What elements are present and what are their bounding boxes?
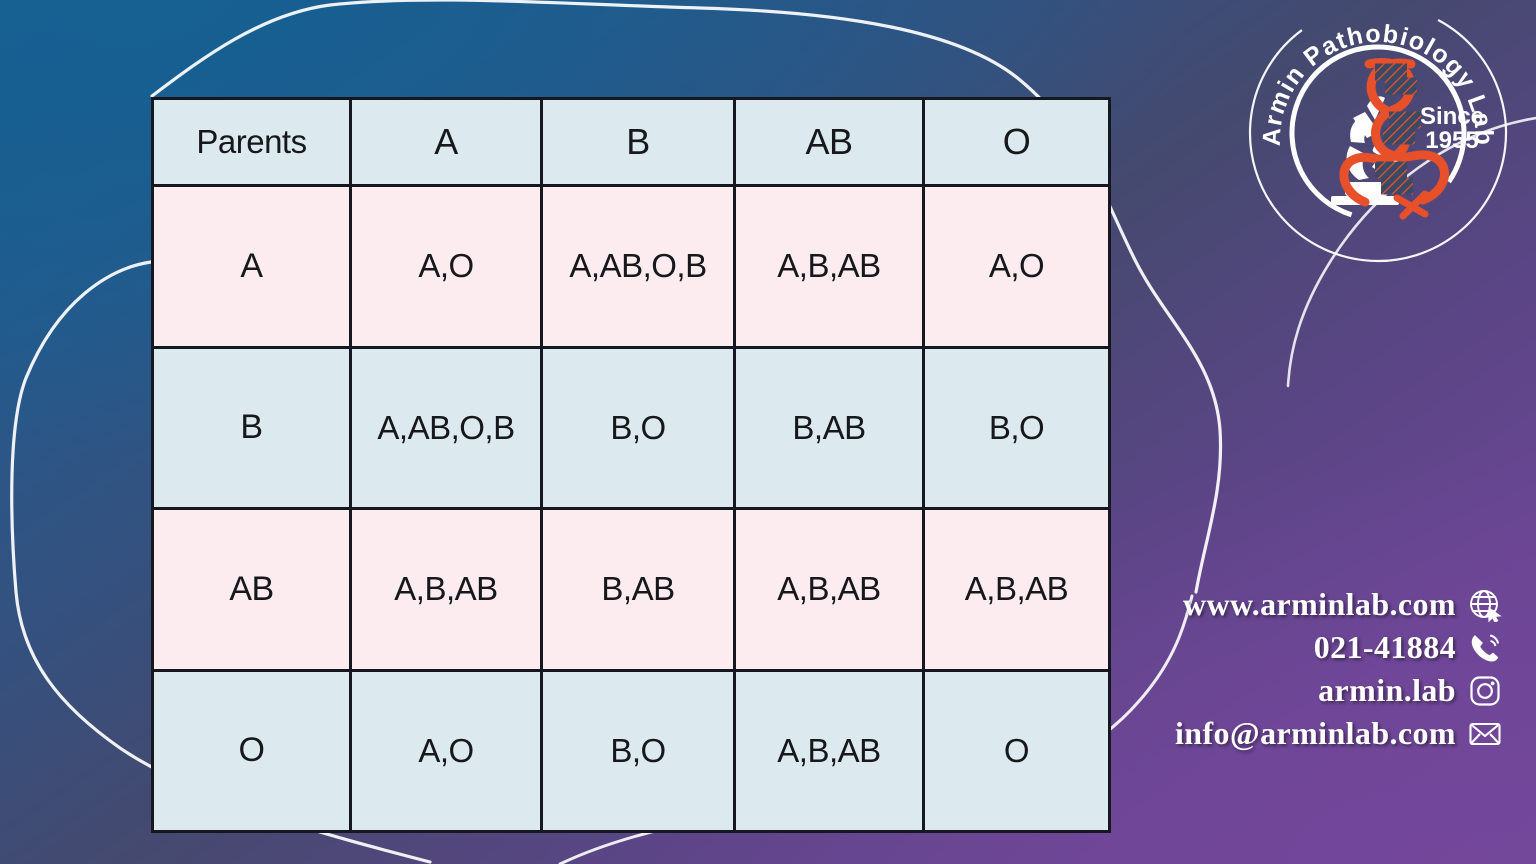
- contact-website-row[interactable]: www.arminlab.com: [1082, 588, 1502, 622]
- cell-ab-o: A,B,AB: [925, 510, 1108, 669]
- contact-instagram-text: armin.lab: [1318, 674, 1456, 708]
- logo-since-year: 1955: [1425, 127, 1478, 154]
- contact-phone-row[interactable]: 021-41884: [1082, 631, 1502, 665]
- cell-b-b: B,O: [543, 349, 733, 508]
- cell-a-a: A,O: [352, 187, 540, 346]
- contact-phone-text: 021-41884: [1314, 631, 1456, 665]
- globe-cursor-icon: [1468, 588, 1502, 622]
- contact-instagram-row[interactable]: armin.lab: [1082, 674, 1502, 708]
- cell-a-ab: A,B,AB: [736, 187, 922, 346]
- contact-block: www.arminlab.com 021-41884: [1082, 588, 1502, 760]
- blood-type-inheritance-table: Parents A B AB O A A,O A,AB,O,B A,B,AB A…: [151, 97, 1093, 833]
- instagram-icon: [1468, 674, 1502, 708]
- contact-email-text: info@arminlab.com: [1175, 717, 1456, 751]
- phone-ring-icon: [1468, 631, 1502, 665]
- cell-o-b: B,O: [543, 672, 733, 831]
- header-parents: Parents: [154, 100, 349, 184]
- header-col-a: A: [352, 100, 540, 184]
- table-row: A A,O A,AB,O,B A,B,AB A,O: [154, 187, 1108, 346]
- logo-since-label: Since: [1420, 103, 1484, 130]
- infographic-canvas: Armin Pathobiology Lab Since 1955: [0, 0, 1536, 864]
- cell-ab-ab: A,B,AB: [736, 510, 922, 669]
- table-row: AB A,B,AB B,AB A,B,AB A,B,AB: [154, 510, 1108, 669]
- table-row: B A,AB,O,B B,O B,AB B,O: [154, 349, 1108, 508]
- row-label-b: B: [154, 349, 349, 508]
- contact-email-row[interactable]: info@arminlab.com: [1082, 717, 1502, 751]
- header-col-ab: AB: [736, 100, 922, 184]
- cell-ab-a: A,B,AB: [352, 510, 540, 669]
- table-header-row: Parents A B AB O: [154, 100, 1108, 184]
- cell-a-b: A,AB,O,B: [543, 187, 733, 346]
- row-label-ab: AB: [154, 510, 349, 669]
- cell-b-a: A,AB,O,B: [352, 349, 540, 508]
- cell-o-a: A,O: [352, 672, 540, 831]
- cell-a-o: A,O: [925, 187, 1108, 346]
- logo: Armin Pathobiology Lab Since 1955: [1247, 2, 1509, 264]
- cell-b-o: B,O: [925, 349, 1108, 508]
- row-label-a: A: [154, 187, 349, 346]
- cell-o-o: O: [925, 672, 1108, 831]
- header-col-o: O: [925, 100, 1108, 184]
- contact-website-text: www.arminlab.com: [1183, 588, 1456, 622]
- cell-o-ab: A,B,AB: [736, 672, 922, 831]
- table-row: O A,O B,O A,B,AB O: [154, 672, 1108, 831]
- header-col-b: B: [543, 100, 733, 184]
- envelope-icon: [1468, 717, 1502, 751]
- cell-ab-b: B,AB: [543, 510, 733, 669]
- row-label-o: O: [154, 672, 349, 831]
- cell-b-ab: B,AB: [736, 349, 922, 508]
